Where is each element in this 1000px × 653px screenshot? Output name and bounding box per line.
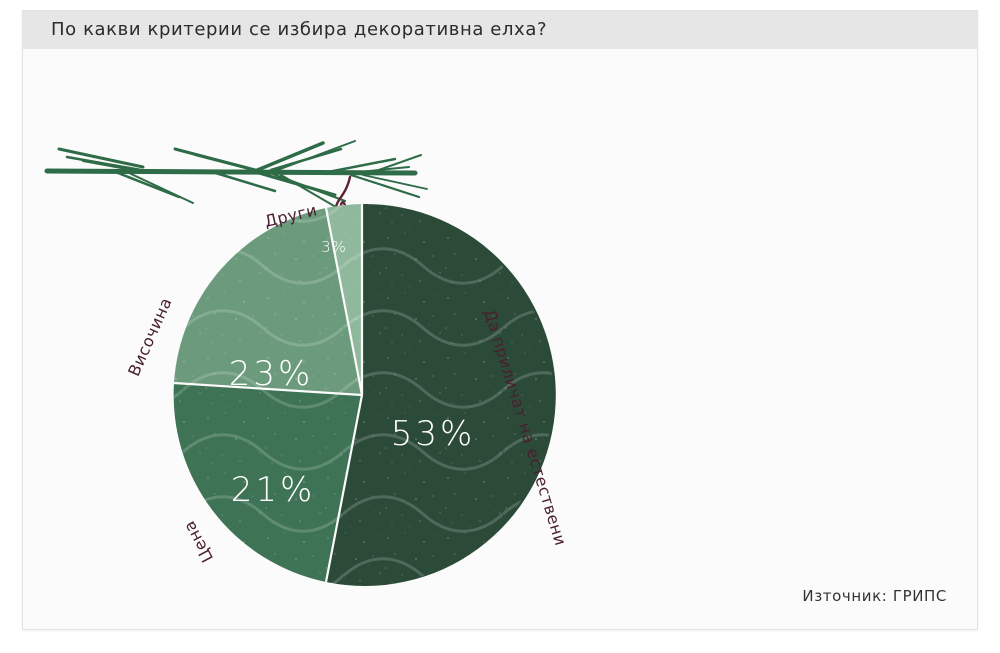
infographic-card: По какви критерии се избира декоративна … [22,10,978,630]
slice-value-other: 3% [321,238,347,256]
card-body: 53% 21% 23% 3% Други Височина Цена Да пр… [23,49,977,630]
pie-chart-figure: 53% 21% 23% 3% Други Височина Цена Да пр… [23,49,978,630]
pie-slices [163,199,563,599]
page-title: По какви критерии се избира декоративна … [51,19,547,40]
slice-label-price: Цена [179,517,217,565]
card-header: По какви критерии се избира декоративна … [23,11,977,49]
slice-value-natural: 53% [391,414,476,454]
source-note: Източник: ГРИПС [802,587,947,605]
slice-value-height: 23% [229,354,314,394]
slice-label-height: Височина [124,294,176,379]
slice-value-price: 21% [231,470,316,510]
